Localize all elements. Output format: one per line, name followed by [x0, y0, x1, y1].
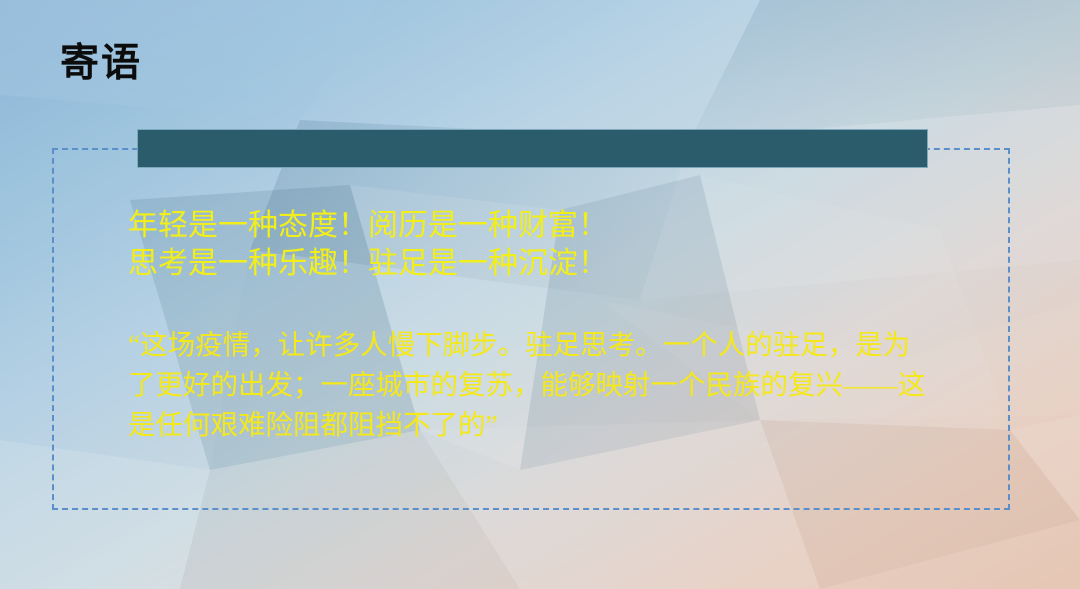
paragraph-spacer	[128, 283, 958, 325]
quote-line-1: “这场疫情，让许多人慢下脚步。驻足思考。一个人的驻足，是为	[128, 325, 940, 365]
quote-line-2: 了更好的出发；一座城市的复苏，能够映射一个民族的复兴——这	[128, 365, 940, 405]
slide-canvas: 寄语 年轻是一种态度！阅历是一种财富！ 思考是一种乐趣！驻足是一种沉淀！ “这场…	[0, 0, 1080, 589]
page-title: 寄语	[60, 42, 142, 87]
quote-line-3: 是任何艰难险阻都阻挡不了的”	[128, 405, 940, 445]
verse-line-2: 思考是一种乐趣！驻足是一种沉淀！	[128, 245, 958, 283]
verse-line-1: 年轻是一种态度！阅历是一种财富！	[128, 207, 958, 245]
quote-paragraph: “这场疫情，让许多人慢下脚步。驻足思考。一个人的驻足，是为 了更好的出发；一座城…	[128, 325, 940, 445]
accent-header-bar	[137, 129, 928, 168]
content-text-block: 年轻是一种态度！阅历是一种财富！ 思考是一种乐趣！驻足是一种沉淀！ “这场疫情，…	[128, 207, 958, 445]
